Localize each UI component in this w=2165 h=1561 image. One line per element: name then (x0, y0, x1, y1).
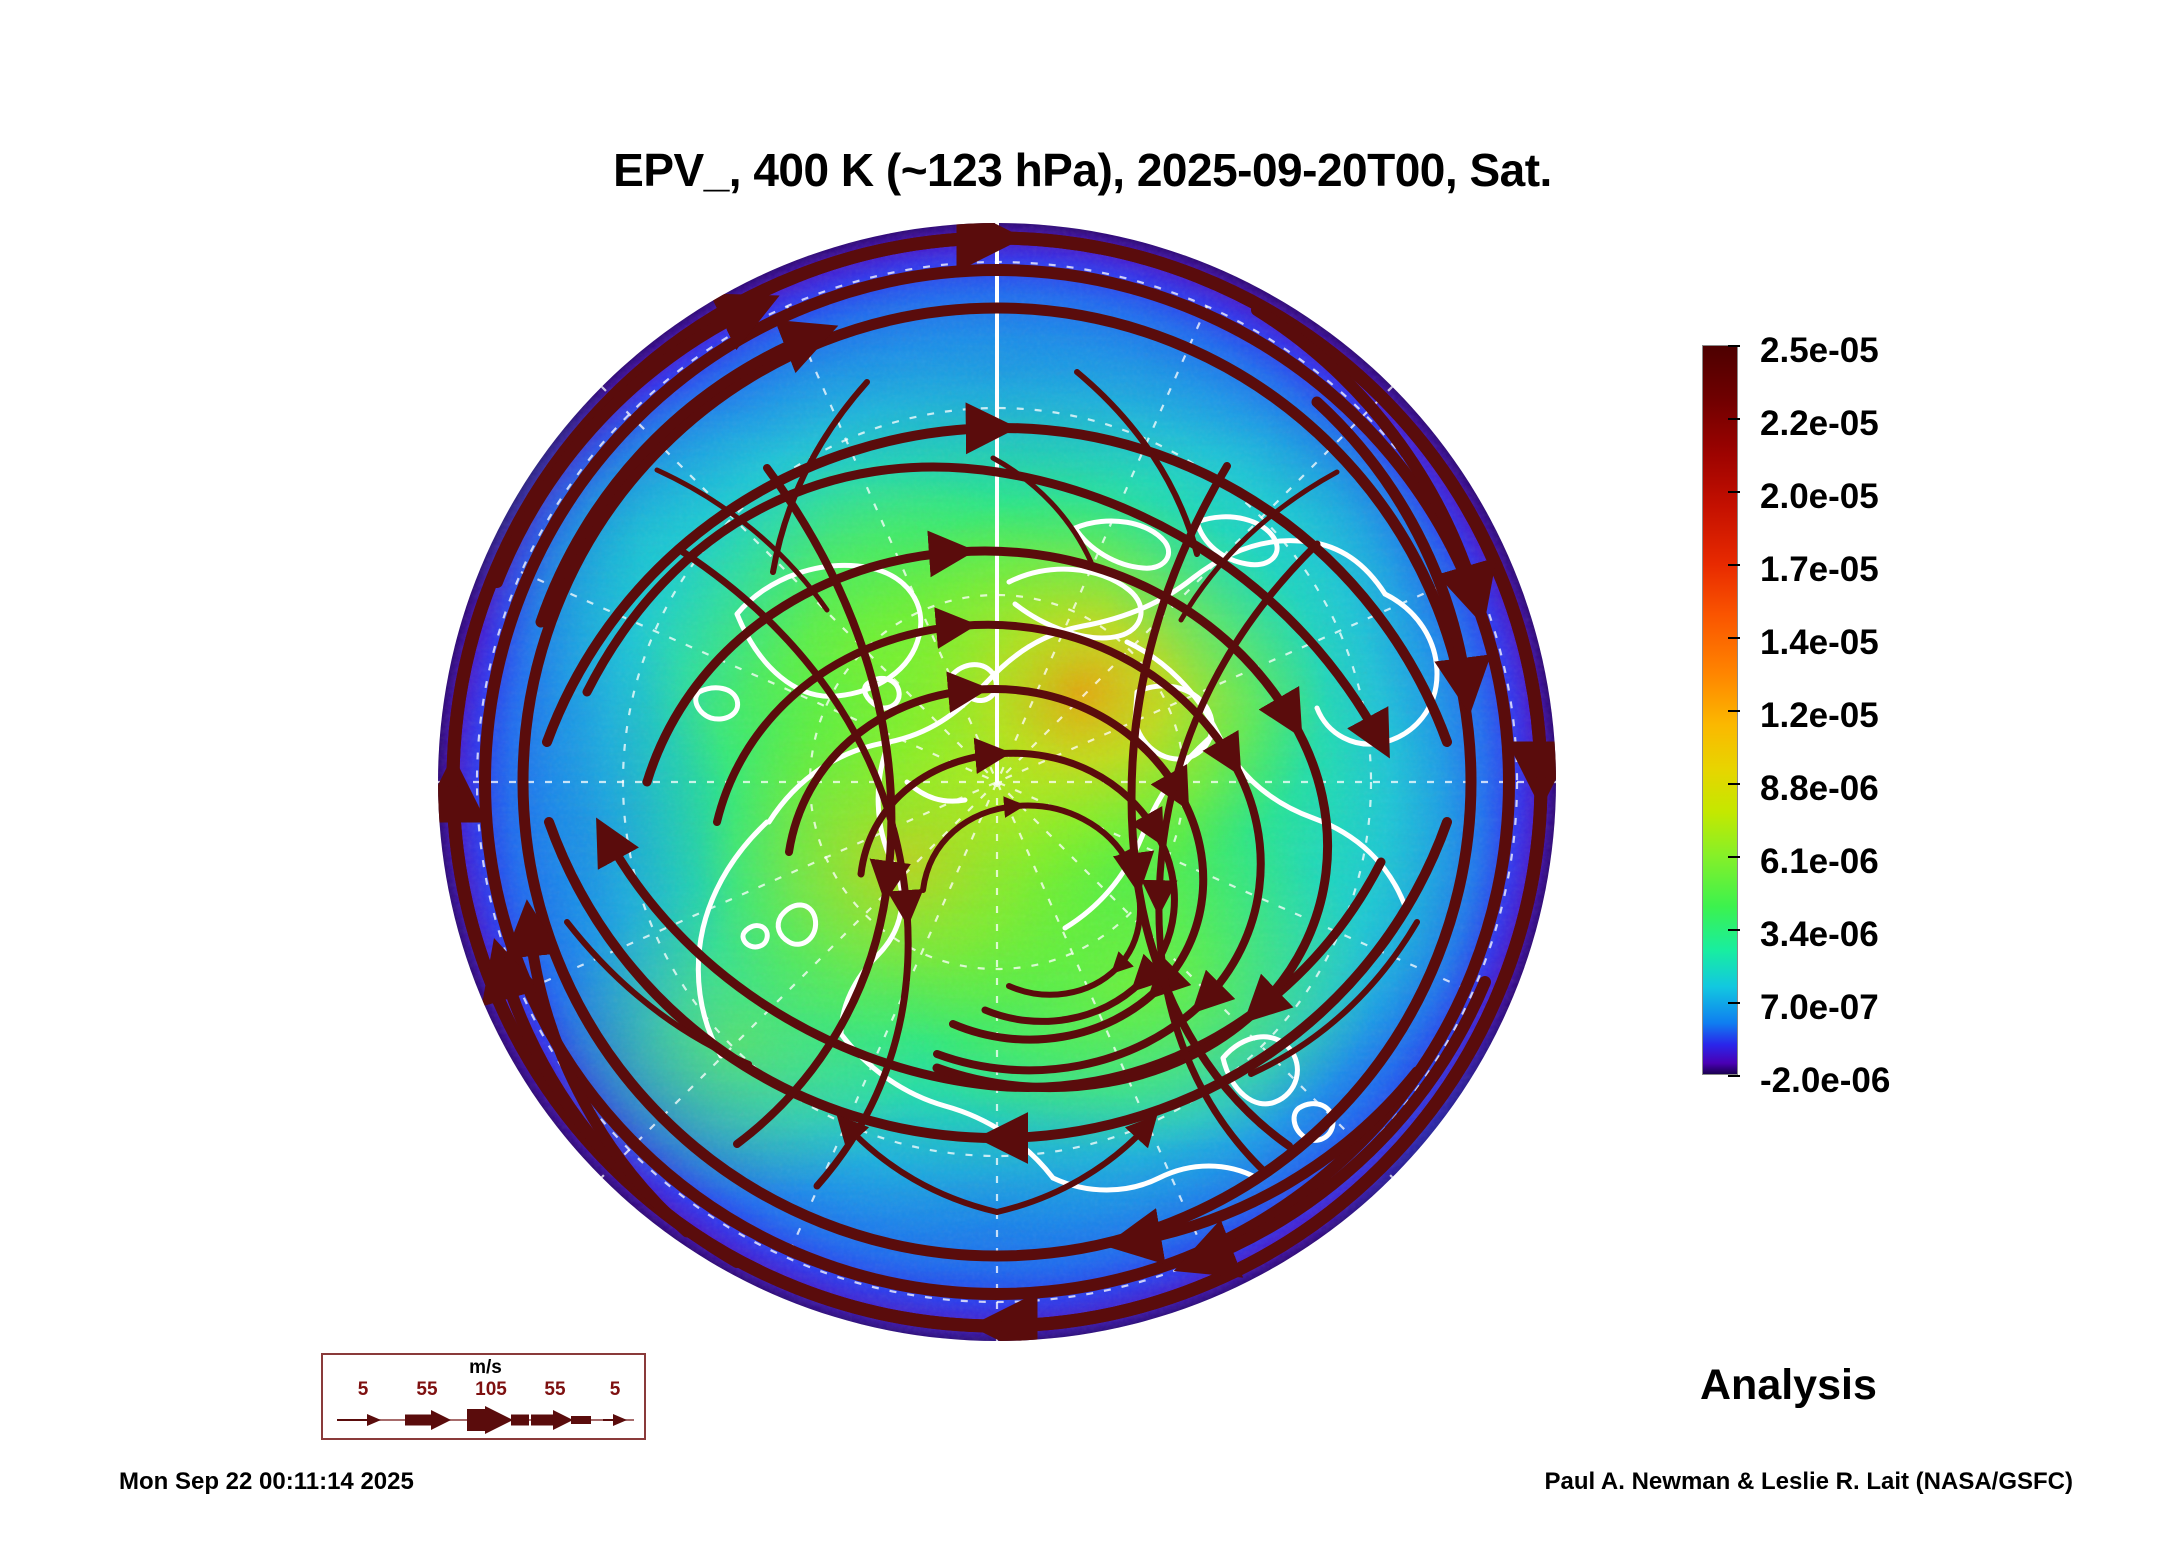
colorbar-label: 1.7e-05 (1760, 550, 1879, 590)
generation-timestamp: Mon Sep 22 00:11:14 2025 (119, 1468, 414, 1496)
colorbar-label: 7.0e-07 (1760, 988, 1879, 1028)
colorbar-label: 1.4e-05 (1760, 623, 1879, 663)
page-title: EPV_, 400 K (~123 hPa), 2025-09-20T00, S… (0, 143, 2165, 197)
colorbar-tick (1728, 856, 1740, 858)
wind-legend-tick: 55 (544, 1379, 565, 1401)
wind-legend-tick: 5 (358, 1379, 369, 1401)
colorbar-tick (1728, 1002, 1740, 1004)
colorbar-label: 6.1e-06 (1760, 842, 1879, 882)
colorbar-tick (1728, 418, 1740, 420)
polar-stereographic-map[interactable] (437, 222, 1557, 1342)
colorbar-label: 2.2e-05 (1760, 404, 1879, 444)
wind-legend-unit-label: m/s (323, 1357, 648, 1379)
wind-legend-arrow-scale (323, 1403, 648, 1437)
colorbar-tick (1728, 929, 1740, 931)
colorbar-label: 2.5e-05 (1760, 331, 1879, 371)
colorbar-tick (1728, 491, 1740, 493)
wind-legend-tick: 55 (416, 1379, 437, 1401)
colorbar-label: 2.0e-05 (1760, 477, 1879, 517)
colorbar-label: -2.0e-06 (1760, 1061, 1890, 1101)
attribution-credit: Paul A. Newman & Leslie R. Lait (NASA/GS… (1544, 1468, 2073, 1496)
globe-disc[interactable] (437, 222, 1557, 1342)
colorbar-tick (1728, 345, 1740, 347)
colorbar-tick (1728, 564, 1740, 566)
colorbar-label: 1.2e-05 (1760, 696, 1879, 736)
wind-legend-tick: 5 (610, 1379, 621, 1401)
colorbar-label: 8.8e-06 (1760, 769, 1879, 809)
colorbar[interactable]: 2.5e-05 2.2e-05 2.0e-05 1.7e-05 1.4e-05 … (1702, 345, 2122, 1080)
colorbar-label: 3.4e-06 (1760, 915, 1879, 955)
analysis-label: Analysis (1700, 1361, 1877, 1410)
wind-speed-legend[interactable]: m/s 5 55 105 55 5 (321, 1353, 646, 1440)
wind-streamline-layer (437, 222, 1557, 1342)
colorbar-tick (1728, 637, 1740, 639)
colorbar-tick (1728, 1075, 1740, 1077)
colorbar-tick (1728, 783, 1740, 785)
colorbar-tick (1728, 710, 1740, 712)
wind-legend-tick: 105 (475, 1379, 507, 1401)
